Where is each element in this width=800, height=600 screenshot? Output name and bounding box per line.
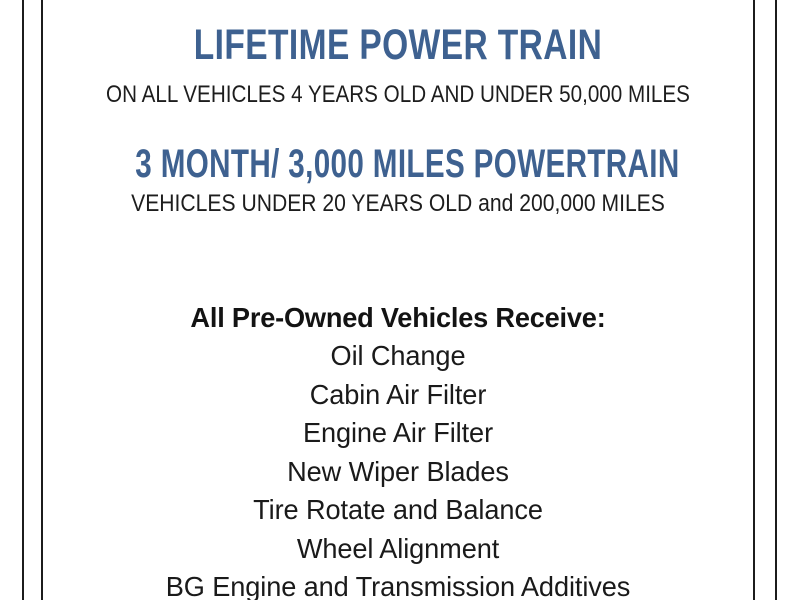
border-rule-right-outer <box>775 0 777 600</box>
list-item: Tire Rotate and Balance <box>54 491 743 530</box>
list-item: BG Engine and Transmission Additives <box>54 568 743 600</box>
three-month-powertrain-title: 3 MONTH/ 3,000 MILES POWERTRAIN <box>135 144 660 184</box>
three-month-powertrain-subtitle: VEHICLES UNDER 20 YEARS OLD and 200,000 … <box>86 192 711 216</box>
list-item: Oil Change <box>54 337 743 376</box>
list-item: Engine Air Filter <box>54 414 743 453</box>
lifetime-powertrain-subtitle: ON ALL VEHICLES 4 YEARS OLD AND UNDER 50… <box>93 83 704 107</box>
list-item: Cabin Air Filter <box>54 376 743 415</box>
services-section: All Pre-Owned Vehicles Receive: Oil Chan… <box>43 299 753 600</box>
warranty-poster: LIFETIME POWER TRAIN ON ALL VEHICLES 4 Y… <box>0 0 800 600</box>
border-rule-left-outer <box>22 0 24 600</box>
list-item: Wheel Alignment <box>54 530 743 569</box>
border-rule-right-inner <box>753 0 755 600</box>
list-item: New Wiper Blades <box>54 453 743 492</box>
services-list: Oil Change Cabin Air Filter Engine Air F… <box>43 337 753 600</box>
services-heading: All Pre-Owned Vehicles Receive: <box>54 299 743 337</box>
lifetime-powertrain-title: LIFETIME POWER TRAIN <box>121 24 675 67</box>
poster-content: LIFETIME POWER TRAIN ON ALL VEHICLES 4 Y… <box>43 0 753 600</box>
